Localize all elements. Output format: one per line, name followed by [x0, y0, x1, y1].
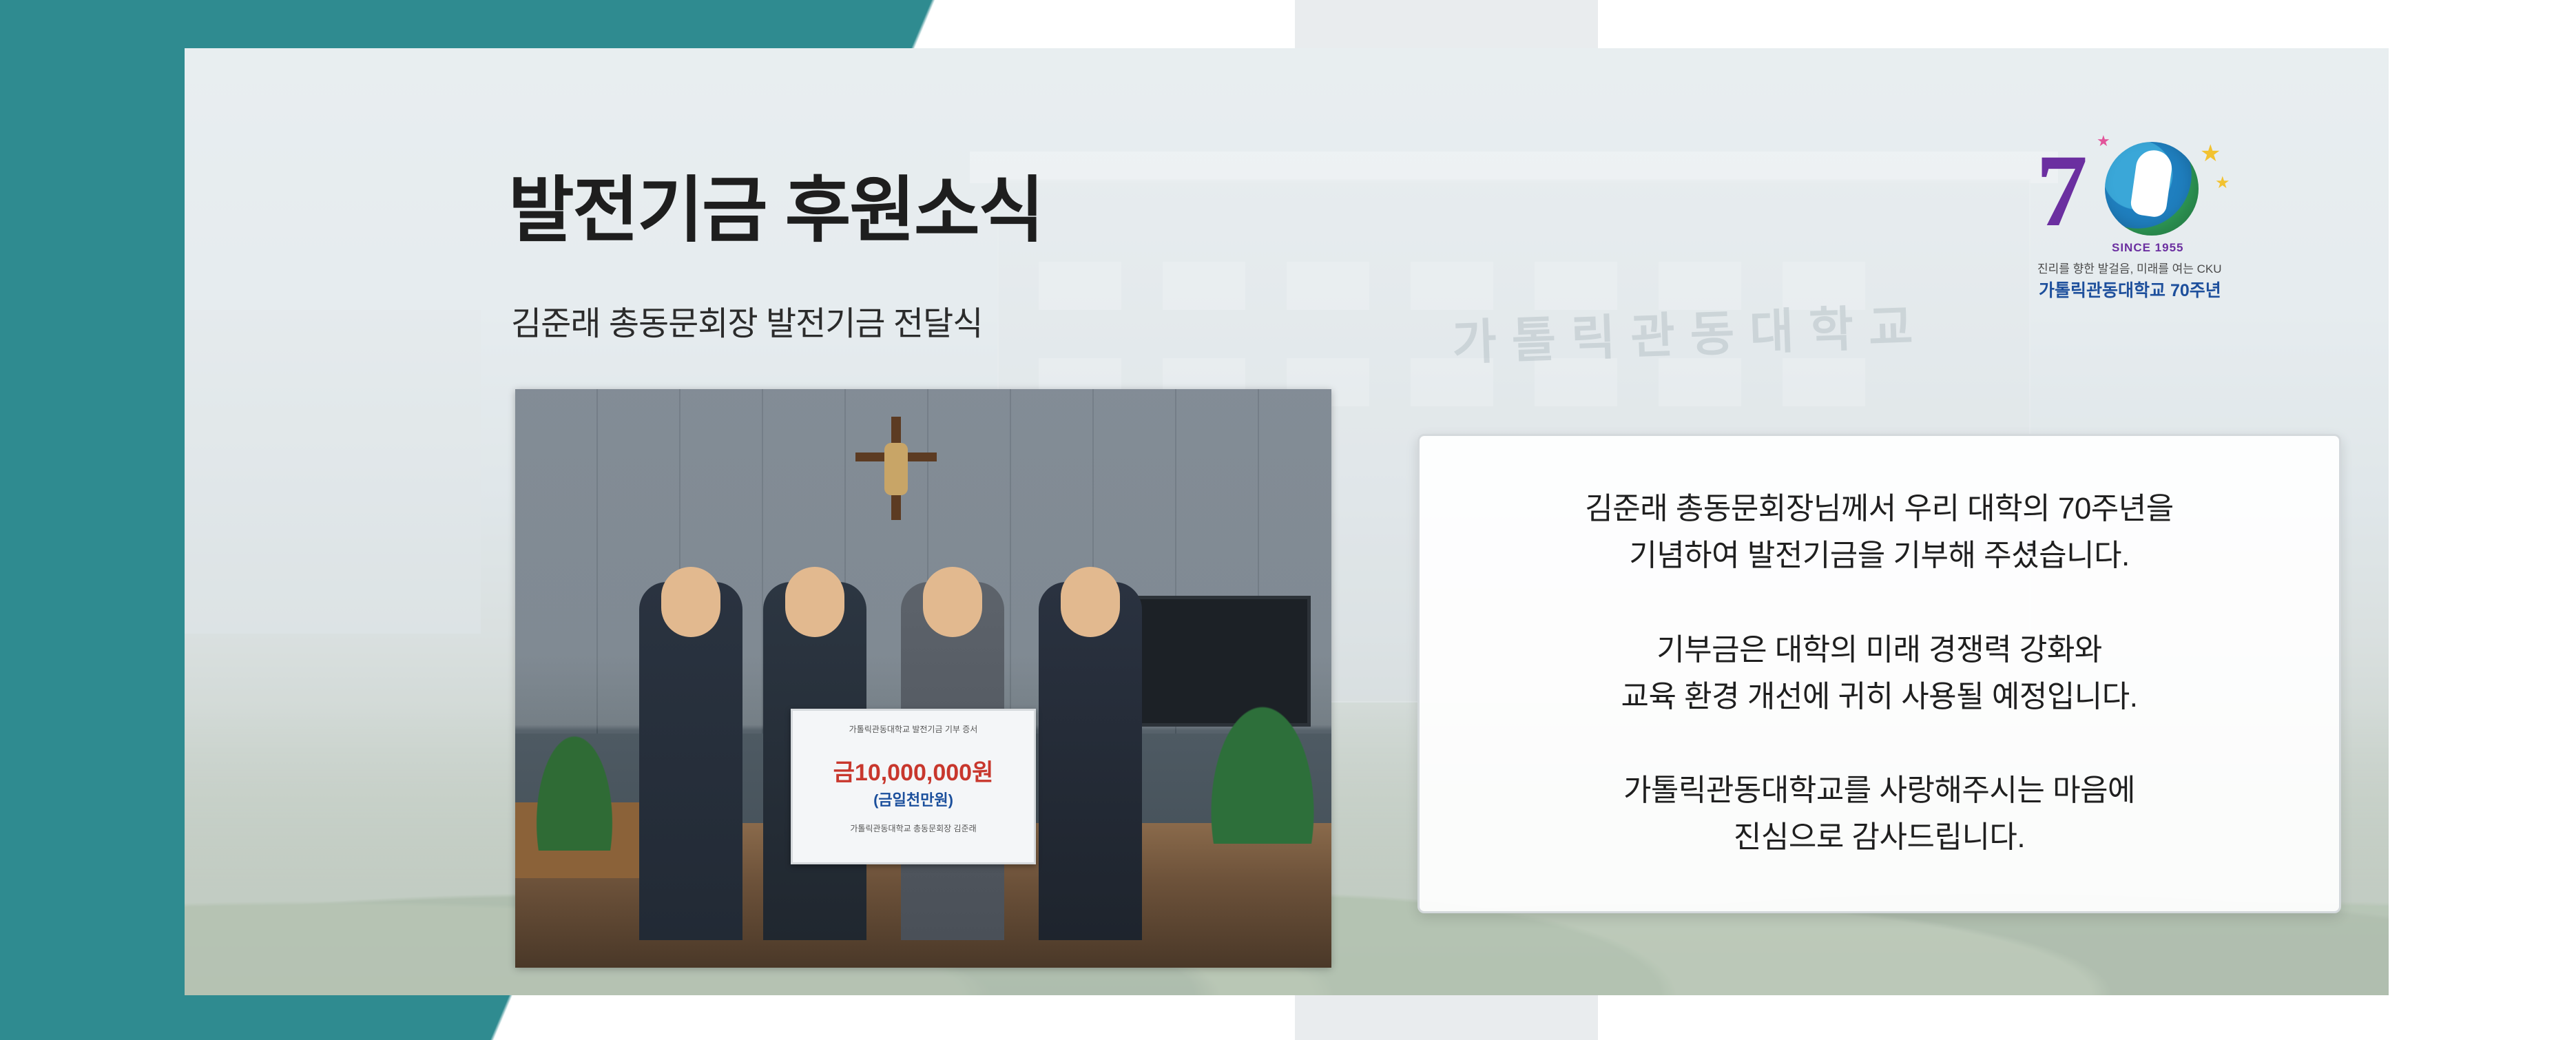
content-card: 가톨릭관동대학교 발전기금 후원소식 김준래 총동문회장 발전기금 전달식 7 …	[185, 48, 2389, 995]
star-icon: ★	[2097, 134, 2110, 149]
photo-person-head	[785, 567, 844, 637]
anniversary-logo: 7 ★ ★ ★ SINCE 1955 진리를 향한 발걸음, 미래를 여는 CK…	[2030, 138, 2265, 317]
photo-person-head	[661, 567, 720, 637]
plaque-amount-words: (금일천만원)	[793, 788, 1034, 810]
page-subtitle: 김준래 총동문회장 발전기금 전달식	[511, 296, 982, 344]
photo-person-head	[1061, 567, 1120, 637]
star-icon: ★	[2200, 142, 2221, 165]
crucifix-figure-icon	[884, 443, 908, 495]
slide-stage: 가톨릭관동대학교 발전기금 후원소식 김준래 총동문회장 발전기금 전달식 7 …	[0, 0, 2576, 1040]
photo-person-head	[923, 567, 982, 637]
plaque-amount: 금10,000,000원	[793, 753, 1034, 787]
photo-plant-left	[526, 713, 623, 851]
logo-since-text: SINCE 1955	[2112, 241, 2184, 255]
plaque-header-text: 가톨릭관동대학교 발전기금 기부 증서	[793, 723, 1034, 735]
logo-70-mark: 7 ★ ★ ★	[2030, 138, 2237, 241]
message-body: 김준래 총동문회장님께서 우리 대학의 70주년을 기념하여 발전기금을 기부해…	[1420, 486, 2339, 862]
star-icon: ★	[2215, 175, 2230, 191]
photo-plant-right	[1201, 685, 1325, 844]
logo-tagline: 진리를 향한 발걸음, 미래를 여는 CKU	[2037, 259, 2222, 276]
page-title: 발전기금 후원소식	[508, 152, 1043, 256]
logo-numeral-seven: 7	[2036, 139, 2088, 242]
donation-plaque: 가톨릭관동대학교 발전기금 기부 증서 금10,000,000원 (금일천만원)…	[791, 709, 1036, 864]
message-box: 김준래 총동문회장님께서 우리 대학의 70주년을 기념하여 발전기금을 기부해…	[1417, 434, 2341, 913]
donation-photo: 가톨릭관동대학교 발전기금 기부 증서 금10,000,000원 (금일천만원)…	[515, 389, 1331, 968]
logo-university-name: 가톨릭관동대학교 70주년	[2039, 277, 2221, 302]
plaque-signature: 가톨릭관동대학교 총동문회장 김준래	[793, 822, 1034, 834]
